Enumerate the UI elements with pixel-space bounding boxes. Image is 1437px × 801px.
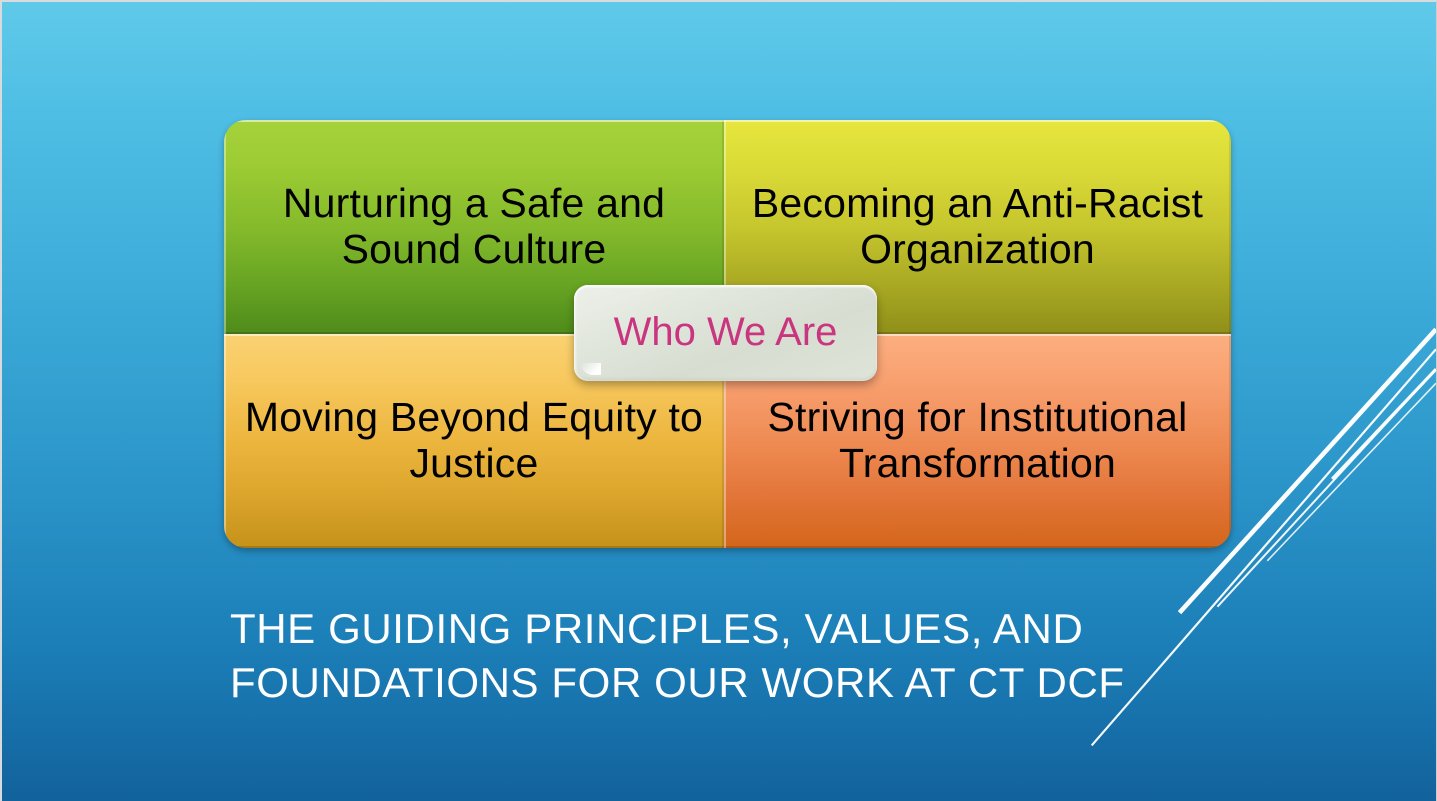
quadrant-label: Nurturing a Safe and Sound Culture bbox=[242, 181, 706, 273]
caption-line-1: The Guiding Principles, Values, and bbox=[230, 602, 1240, 656]
quadrant-label: Moving Beyond Equity to Justice bbox=[242, 395, 706, 487]
center-label-box[interactable]: Who We Are bbox=[574, 285, 877, 381]
quadrant-label: Becoming an Anti-Racist Organization bbox=[742, 181, 1213, 273]
caption-line-2: Foundations for Our Work at CT DCF bbox=[230, 656, 1240, 710]
quadrant-label: Striving for Institutional Transformatio… bbox=[742, 395, 1213, 487]
center-label-text: Who We Are bbox=[574, 311, 877, 355]
slide-canvas: Nurturing a Safe and Sound Culture Becom… bbox=[0, 0, 1437, 801]
slide-caption: The Guiding Principles, Values, and Foun… bbox=[230, 602, 1240, 710]
